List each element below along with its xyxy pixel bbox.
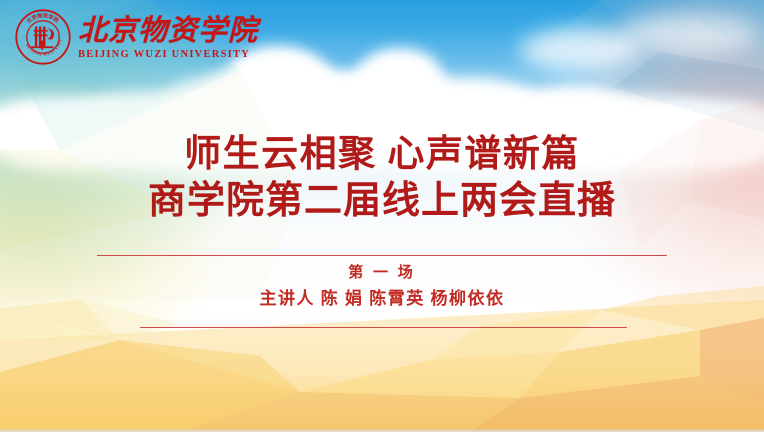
presentation-slide: 北京物资学院 BEIJING WUZI UNIVERSITY 北京物资学院 BE… [0, 0, 764, 432]
divider-line-top [97, 255, 667, 256]
logo-name-cn: 北京物资学院 [78, 15, 258, 47]
divider-line-bottom [140, 327, 627, 328]
slide-subtitle: 第 一 场 主讲人 陈 娟 陈霄英 杨柳依依 [0, 262, 764, 312]
speakers-label: 主讲人 陈 娟 陈霄英 杨柳依依 [0, 286, 764, 312]
title-line-secondary: 商学院第二届线上两会直播 [0, 177, 764, 225]
title-line-primary: 师生云相聚 心声谱新篇 [0, 132, 764, 177]
beijing-wuzi-university-seal-icon: 北京物资学院 BEIJING WUZI UNIVERSITY [14, 8, 72, 66]
session-label: 第 一 场 [0, 262, 764, 284]
university-logo: 北京物资学院 BEIJING WUZI UNIVERSITY 北京物资学院 BE… [14, 8, 258, 66]
logo-wordmark: 北京物资学院 BEIJING WUZI UNIVERSITY [78, 15, 258, 61]
logo-name-en: BEIJING WUZI UNIVERSITY [78, 48, 258, 61]
slide-title: 师生云相聚 心声谱新篇 商学院第二届线上两会直播 [0, 132, 764, 225]
